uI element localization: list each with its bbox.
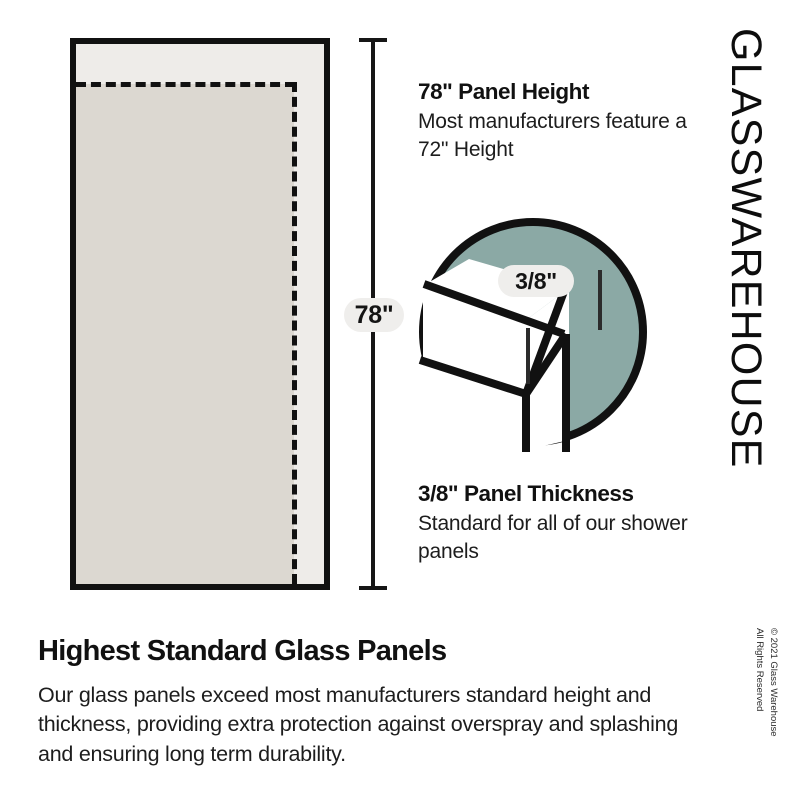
callout-panel-height-body: Most manufacturers feature a 72" Height <box>418 108 718 164</box>
panel-dashed-right-edge <box>292 82 297 584</box>
copyright-line-1: © 2021 Glass Warehouse <box>766 628 780 737</box>
copyright-line-2: All Rights Reserved <box>752 628 766 737</box>
footer-title: Highest Standard Glass Panels <box>38 634 710 669</box>
footer-body: Our glass panels exceed most manufacture… <box>38 681 710 769</box>
callout-panel-thickness-body: Standard for all of our shower panels <box>418 510 718 566</box>
infographic-canvas: 78" 78" Panel Height Most manufacturers … <box>0 0 800 800</box>
footer-text-block: Highest Standard Glass Panels Our glass … <box>38 634 710 769</box>
panel-dashed-top-edge <box>76 82 295 87</box>
copyright-block: © 2021 Glass Warehouse All Rights Reserv… <box>752 628 786 778</box>
brand-logo: GLASSWAREHOUSE <box>717 28 773 498</box>
callout-panel-thickness-title: 3/8" Panel Thickness <box>418 480 718 508</box>
callout-panel-height-title: 78" Panel Height <box>418 78 718 106</box>
brand-name-text: GLASSWAREHOUSE <box>724 28 767 469</box>
glass-panel-illustration <box>70 38 330 590</box>
panel-standard-area-fill <box>76 84 294 584</box>
height-dimension-badge: 78" <box>344 298 404 332</box>
callout-panel-thickness: 3/8" Panel Thickness Standard for all of… <box>418 480 718 566</box>
dimension-cap-bottom <box>359 586 387 590</box>
thickness-dimension-badge: 3/8" <box>498 265 574 297</box>
callout-panel-height: 78" Panel Height Most manufacturers feat… <box>418 78 718 164</box>
thickness-detail-illustration <box>414 212 654 452</box>
